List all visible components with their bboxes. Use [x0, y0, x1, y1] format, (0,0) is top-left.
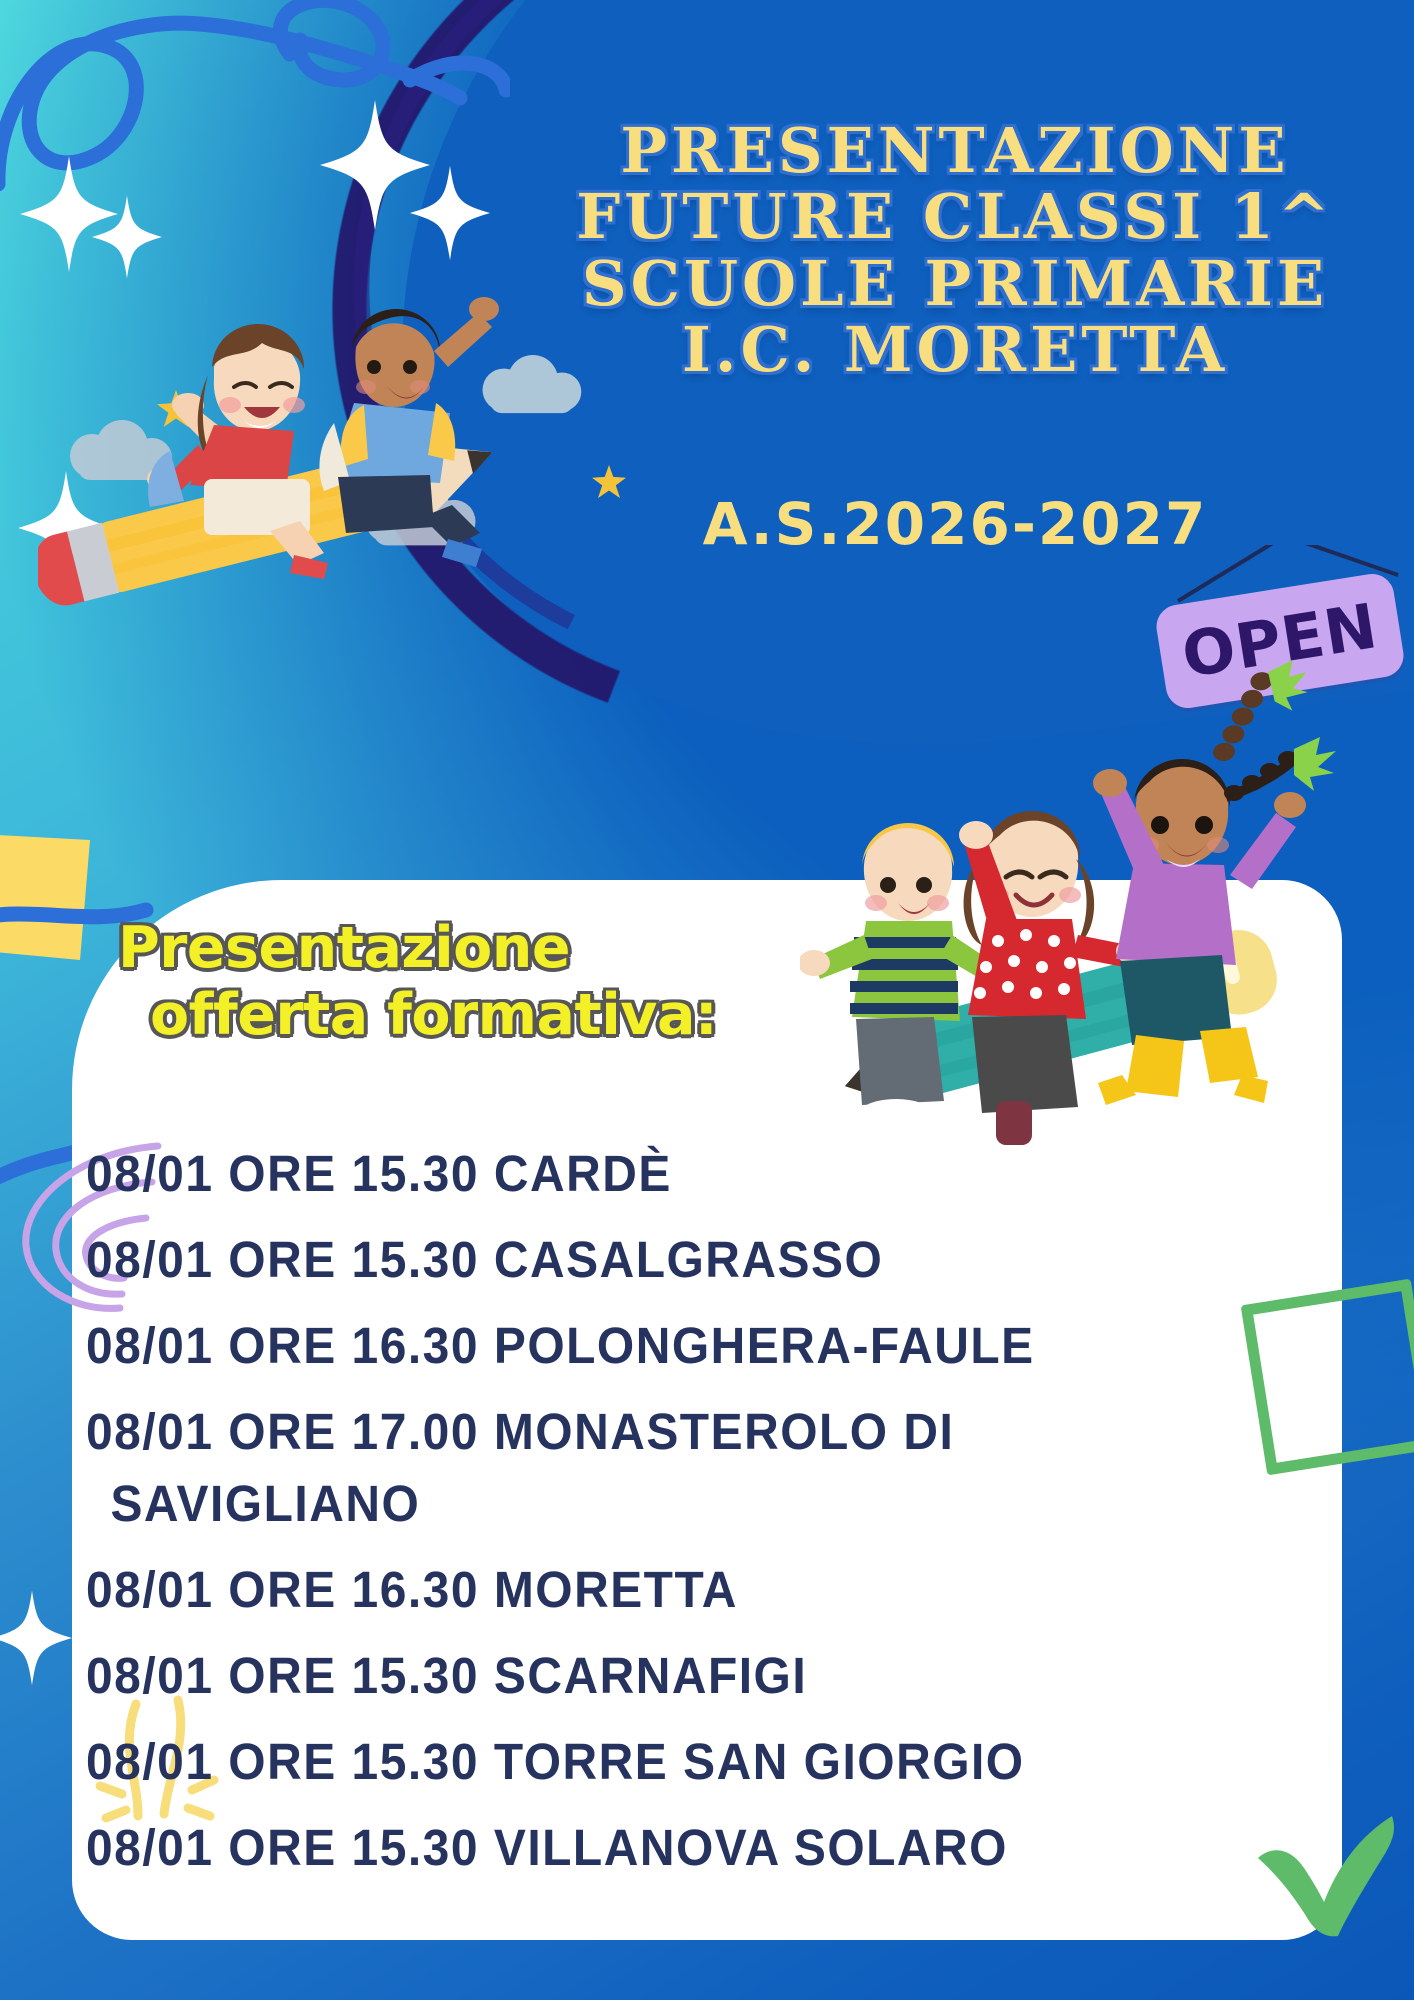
section-heading-line-2: offerta formativa: [118, 982, 798, 1049]
section-heading: Presentazione offerta formativa: [118, 915, 798, 1050]
poster-canvas: PRESENTAZIONE FUTURE CLASSI 1^ SCUOLE PR… [0, 0, 1414, 2000]
open-sign: OPEN [1148, 545, 1414, 730]
section-heading-line-1: Presentazione [118, 915, 798, 982]
schedule-row: 08/01 ORE 16.30 POLONGHERA-FAULE [86, 1320, 1299, 1371]
schedule-row: 08/01 ORE 16.30 MORETTA [86, 1564, 1299, 1615]
title-line-3: SCUOLE PRIMARIE [540, 251, 1370, 317]
sparkle-icon [410, 165, 490, 261]
schedule-row: 08/01 ORE 15.30 CARDÈ [86, 1148, 1299, 1199]
title-line-4: I.C. MORETTA [540, 317, 1370, 383]
schedule-row: 08/01 ORE 15.30 CASALGRASSO [86, 1234, 1299, 1285]
two-children-riding-yellow-pencil-illustration [38, 255, 598, 615]
schedule-row: 08/01 ORE 17.00 MONASTEROLO DI [86, 1406, 1299, 1457]
three-children-riding-teal-pencil-illustration [800, 735, 1360, 1155]
schedule-row: 08/01 ORE 15.30 TORRE SAN GIORGIO [86, 1736, 1299, 1787]
title-line-1: PRESENTAZIONE [540, 118, 1370, 184]
schedule-row: 08/01 ORE 15.30 SCARNAFIGI [86, 1650, 1299, 1701]
schedule-row-continuation: SAVIGLIANO [86, 1478, 1299, 1529]
sparkle-icon [0, 1590, 72, 1686]
page-title: PRESENTAZIONE FUTURE CLASSI 1^ SCUOLE PR… [540, 118, 1370, 383]
schedule-row: 08/01 ORE 15.30 VILLANOVA SOLARO [86, 1822, 1299, 1873]
schedule-list: 08/01 ORE 15.30 CARDÈ 08/01 ORE 15.30 CA… [86, 1148, 1376, 1908]
title-line-2: FUTURE CLASSI 1^ [540, 184, 1370, 250]
